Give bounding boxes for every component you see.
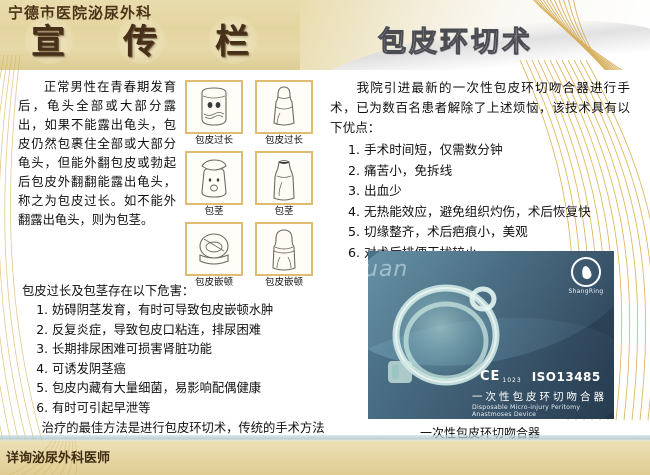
badge-lan: 栏 [206, 18, 258, 66]
condition-figure-grid: 包皮过长 包皮过长 [183, 80, 315, 289]
harms-list-item: 包皮内藏有大量细菌，易影响配偶健康 [52, 379, 332, 399]
advantages-intro-paragraph: 我院引进最新的一次性包皮环切吻合器进行手术，已为数百名患者解除了上述烦恼，该技术… [330, 78, 630, 138]
poster-title: 包皮环切术 [378, 20, 533, 60]
ce-number-label: 1023 [502, 377, 521, 384]
figure-cell: 包茎 [183, 151, 245, 218]
right-column: 我院引进最新的一次性包皮环切吻合器进行手术，已为数百名患者解除了上述烦恼，该技术… [330, 78, 630, 263]
badge-xuan: 宣 [22, 18, 74, 66]
certification-marks: CE 1023 ISO13485 [480, 369, 601, 384]
badge-group: 宣 传 栏 [22, 18, 258, 66]
poster-root: 宁德市医院泌尿外科 宣 传 栏 包皮环切术 [0, 0, 650, 475]
shangring-logo-text: ShangRing [566, 288, 606, 295]
harms-list: 妨碍阴茎发育，有时可导致包皮嵌顿水肿 反复炎症，导致包皮口粘连，排尿困难 长期排… [22, 301, 332, 418]
intro-paragraph: 正常男性在青春期发育后，龟头全部或大部分露出，如果不能露出龟头，包皮仍然包裹住全… [18, 78, 176, 230]
product-name-cn: 一次性包皮环切吻合器 [472, 389, 607, 404]
left-column: 正常男性在青春期发育后，龟头全部或大部分露出，如果不能露出龟头，包皮仍然包裹住全… [18, 78, 176, 230]
product-name-en: Disposable Micro-injury Peritomy Anastmo… [472, 404, 614, 418]
advantages-list-item: 痛苦小，免拆线 [364, 161, 630, 182]
badge-lan-char: 栏 [215, 25, 249, 59]
ce-mark-label: CE [480, 369, 500, 384]
foreskin-long-front-icon [185, 80, 243, 134]
phimosis-side-icon [255, 151, 313, 205]
figure-caption: 包皮过长 [265, 135, 303, 147]
figure-caption: 包茎 [204, 206, 223, 218]
figure-cell: 包皮过长 [183, 80, 245, 147]
figure-cell: 包皮嵌顿 [183, 222, 245, 289]
poster-footer: 详询泌尿外科医师 [0, 441, 650, 475]
paraphimosis-front-icon [185, 222, 243, 276]
advantages-list: 手术时间短，仅需数分钟 痛苦小，免拆线 出血少 无热能效应，避免组织灼伤，术后恢… [330, 140, 630, 263]
figure-cell: 包皮过长 [253, 80, 315, 147]
badge-chuan: 传 [114, 18, 166, 66]
harms-list-item: 妨碍阴茎发育，有时可导致包皮嵌顿水肿 [52, 301, 332, 321]
figure-caption: 包茎 [274, 206, 293, 218]
figure-cell: 包皮嵌顿 [253, 222, 315, 289]
badge-chuan-char: 传 [123, 25, 157, 59]
shangring-droplet-logo-icon [571, 257, 601, 287]
iso-label: ISO13485 [532, 370, 601, 384]
advantages-list-item: 出血少 [364, 181, 630, 202]
poster-header: 宁德市医院泌尿外科 宣 传 栏 包皮环切术 [0, 0, 650, 70]
harms-list-item: 可诱发阴茎癌 [52, 360, 332, 380]
figure-cell: 包茎 [253, 151, 315, 218]
harms-title: 包皮过长及包茎存在以下危害： [22, 282, 332, 301]
harms-section: 包皮过长及包茎存在以下危害： 妨碍阴茎发育，有时可导致包皮嵌顿水肿 反复炎症，导… [22, 282, 332, 458]
foreskin-long-side-icon [255, 80, 313, 134]
advantages-list-item: 手术时间短，仅需数分钟 [364, 140, 630, 161]
shangring-logo: ShangRing [566, 257, 606, 295]
footer-contact-text: 详询泌尿外科医师 [6, 447, 110, 466]
figure-caption: 包皮过长 [195, 135, 233, 147]
harms-list-item: 长期排尿困难可损害肾脏功能 [52, 340, 332, 360]
advantages-list-item: 无热能效应，避免组织灼伤，术后恢复快 [364, 202, 630, 223]
harms-list-item: 有时可引起早泄等 [52, 399, 332, 419]
product-photo: uan ShangRing CE 1023 ISO13 [368, 251, 614, 419]
paraphimosis-side-icon [255, 222, 313, 276]
advantages-list-item: 切缘整齐，术后疤痕小，美观 [364, 222, 630, 243]
badge-xuan-char: 宣 [31, 25, 65, 59]
phimosis-front-icon [185, 151, 243, 205]
harms-list-item: 反复炎症，导致包皮口粘连，排尿困难 [52, 321, 332, 341]
